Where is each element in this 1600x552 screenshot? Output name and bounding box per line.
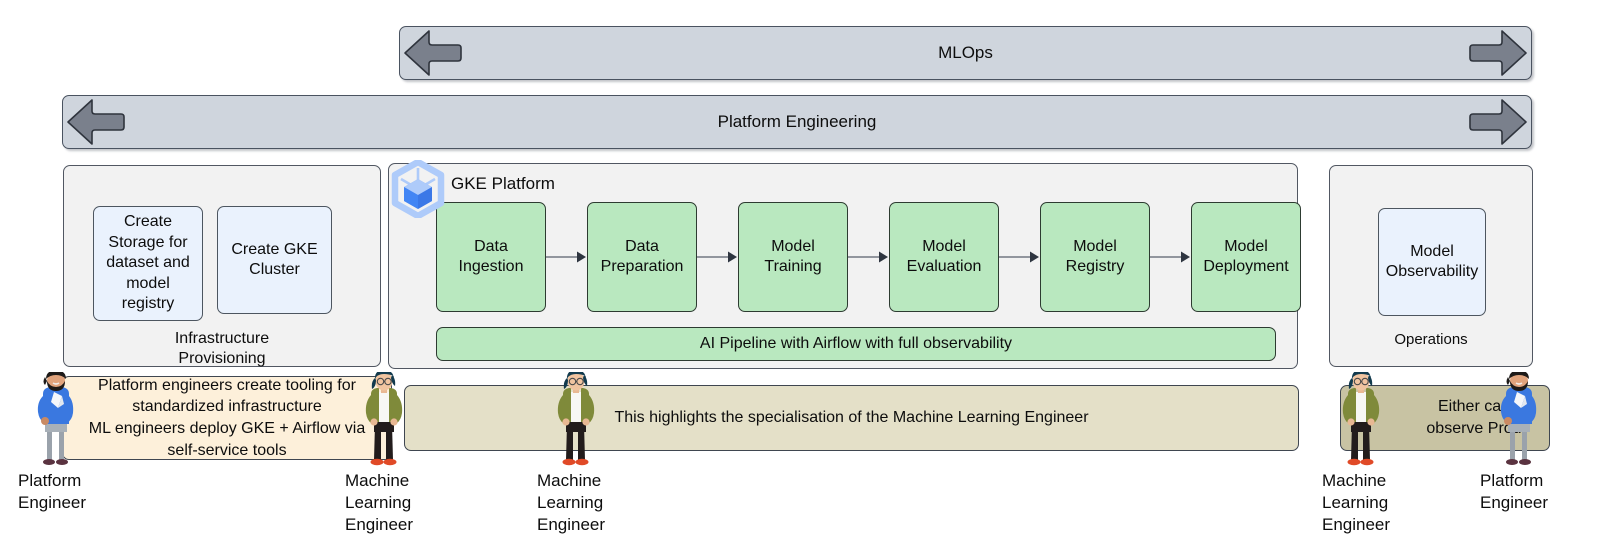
arrow-right-icon	[1468, 97, 1528, 147]
persona-platform-engineer	[28, 372, 84, 468]
persona-label-ml-engineer: Machine Learning Engineer	[537, 470, 605, 536]
node-create-storage[interactable]: Create Storage for dataset and model reg…	[93, 206, 203, 321]
persona-platform-engineer	[1491, 372, 1547, 468]
node-model-evaluation[interactable]: Model Evaluation	[889, 202, 999, 312]
band-platform-engineering-label: Platform Engineering	[63, 96, 1531, 148]
persona-ml-engineer	[356, 372, 412, 468]
panel-infrastructure-caption: Infrastructure Provisioning	[64, 329, 380, 369]
flow-arrow-icon	[1150, 250, 1191, 264]
note-platform-tooling: Platform engineers create tooling for st…	[62, 376, 392, 460]
note-ml-specialisation: This highlights the specialisation of th…	[404, 385, 1299, 451]
flow-arrow-icon	[697, 250, 738, 264]
persona-ml-engineer	[1333, 372, 1389, 468]
node-model-registry[interactable]: Model Registry	[1040, 202, 1150, 312]
persona-label-platform-engineer: Platform Engineer	[1480, 470, 1548, 514]
arrow-right-icon	[1468, 28, 1528, 78]
persona-ml-engineer	[548, 372, 604, 468]
persona-label-platform-engineer: Platform Engineer	[18, 470, 86, 514]
panel-operations: Model Observability Operations	[1329, 165, 1533, 367]
persona-label-ml-engineer: Machine Learning Engineer	[345, 470, 413, 536]
flow-arrow-icon	[848, 250, 889, 264]
node-create-gke-cluster[interactable]: Create GKE Cluster	[217, 206, 332, 314]
node-data-preparation[interactable]: Data Preparation	[587, 202, 697, 312]
band-mlops-label: MLOps	[400, 27, 1531, 79]
gke-hexagon-cube-icon	[391, 160, 445, 218]
node-model-training[interactable]: Model Training	[738, 202, 848, 312]
panel-operations-caption: Operations	[1330, 331, 1532, 350]
flow-arrow-icon	[999, 250, 1040, 264]
node-model-deployment[interactable]: Model Deployment	[1191, 202, 1301, 312]
node-model-observability[interactable]: Model Observability	[1378, 208, 1486, 316]
node-data-ingestion[interactable]: Data Ingestion	[436, 202, 546, 312]
flow-arrow-icon	[546, 250, 587, 264]
band-platform-engineering: Platform Engineering	[62, 95, 1532, 149]
panel-infrastructure-provisioning: Create Storage for dataset and model reg…	[63, 165, 381, 367]
panel-gke-platform: GKE Platform Data Ingestion Data Prepara…	[388, 163, 1298, 369]
strip-ai-pipeline-airflow[interactable]: AI Pipeline with Airflow with full obser…	[436, 327, 1276, 361]
panel-gke-platform-title: GKE Platform	[451, 174, 555, 194]
persona-label-ml-engineer: Machine Learning Engineer	[1322, 470, 1390, 536]
diagram-canvas: MLOps Platform Engineering Create Storag…	[0, 0, 1600, 552]
band-mlops: MLOps	[399, 26, 1532, 80]
